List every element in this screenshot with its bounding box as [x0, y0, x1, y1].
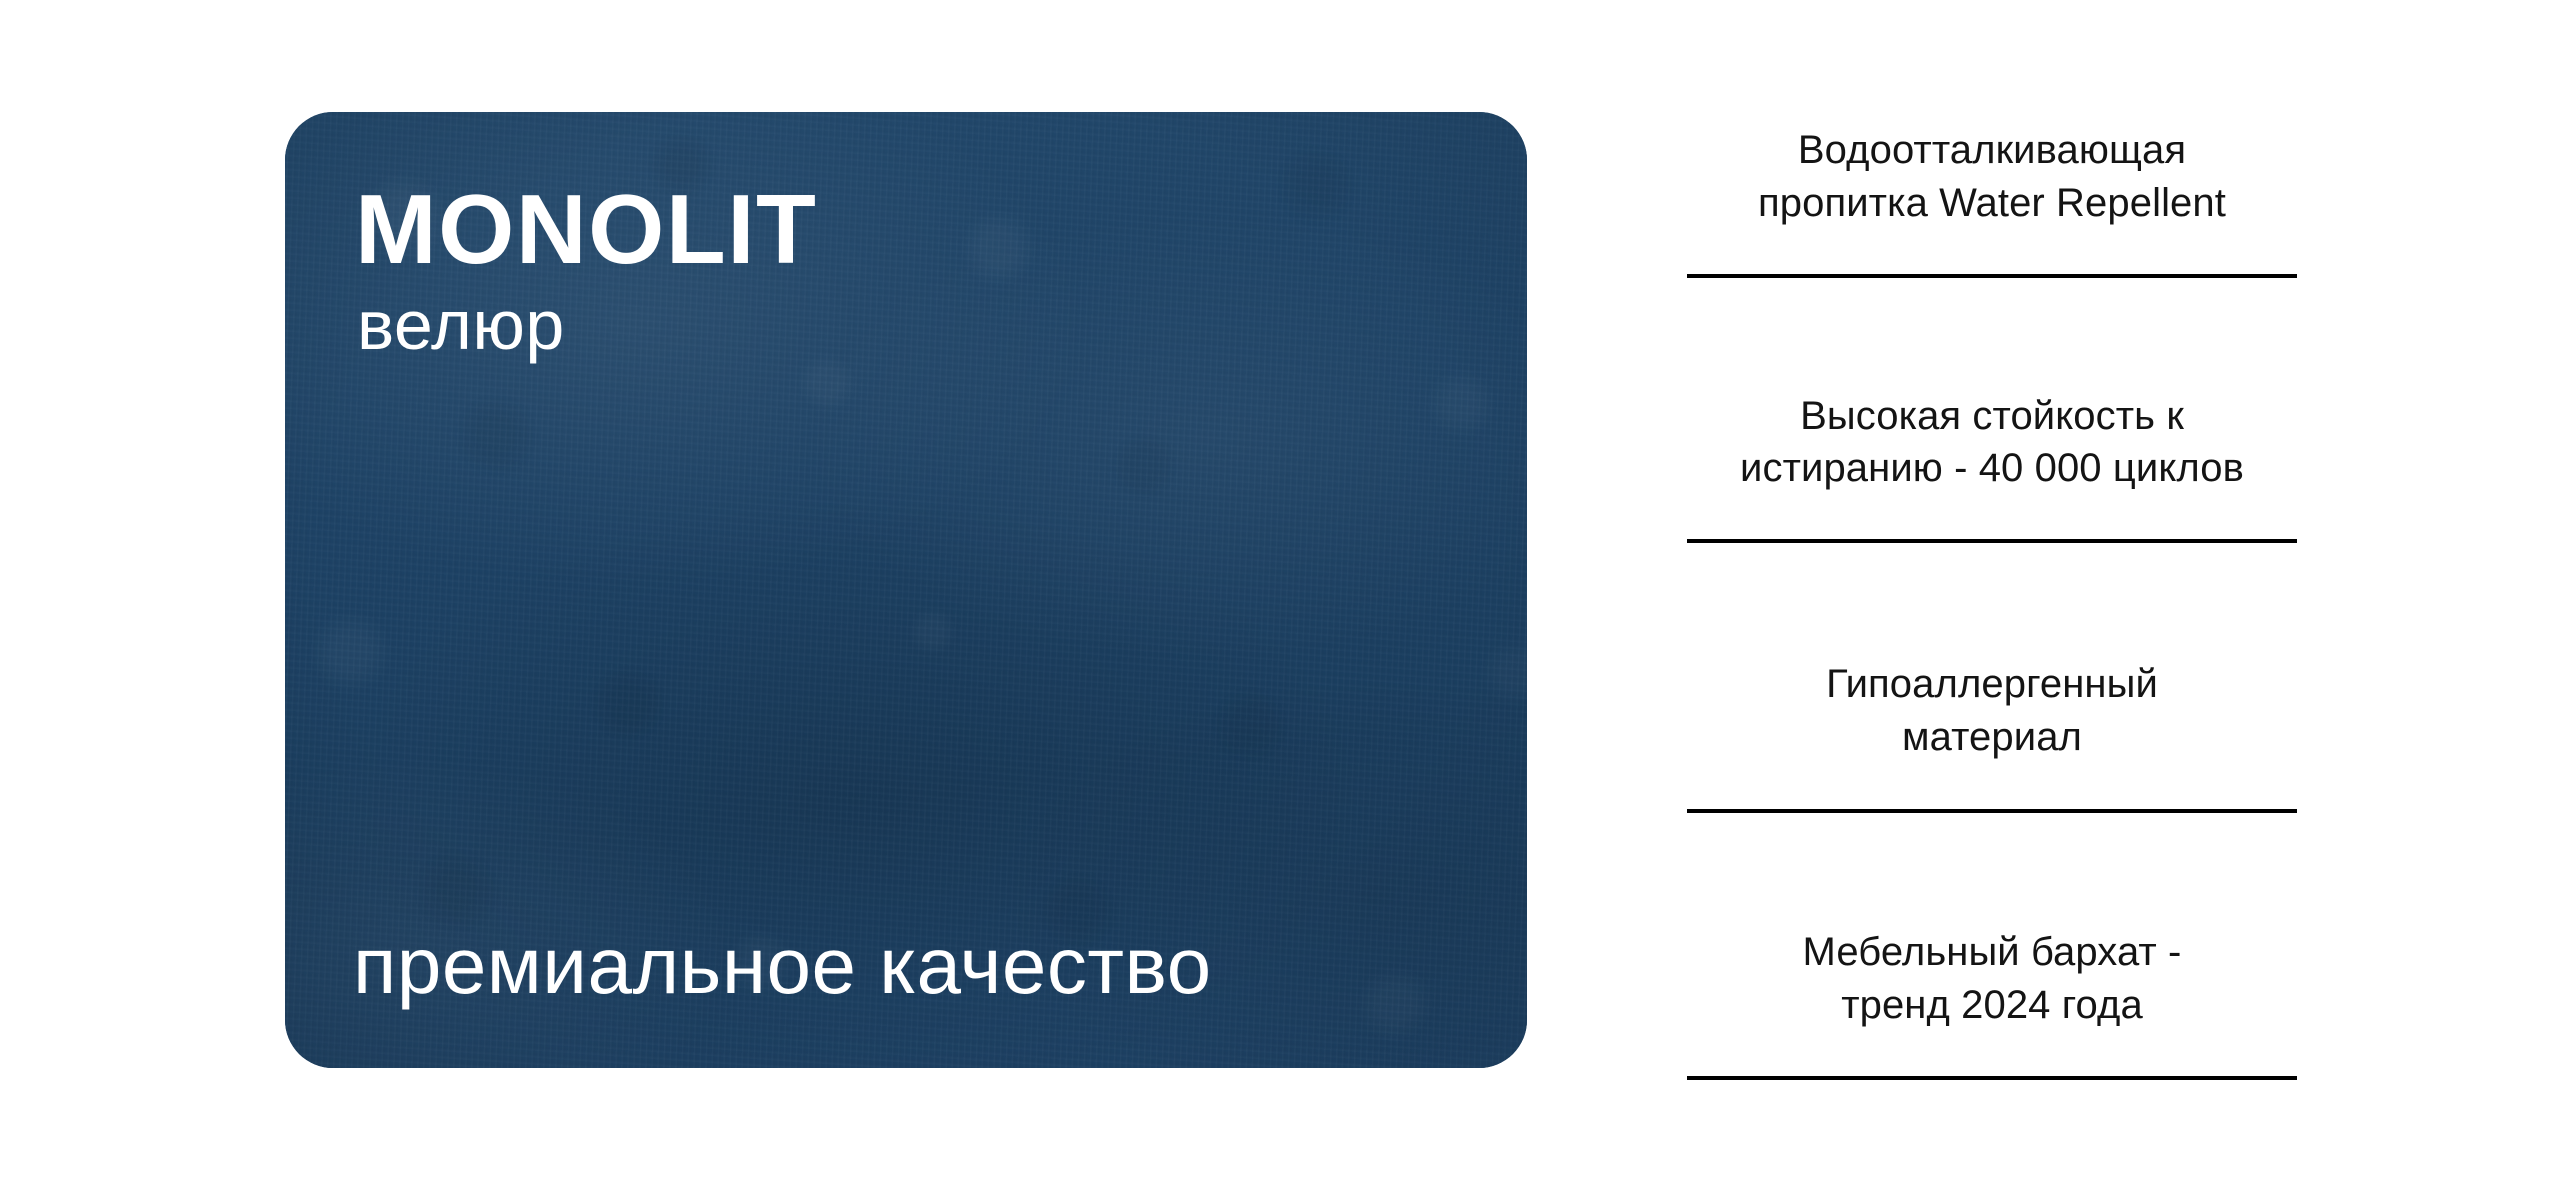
features-list: Водоотталкивающая пропитка Water Repelle…	[1687, 112, 2297, 1080]
feature-item: Мебельный бархат - тренд 2024 года	[1687, 813, 2297, 1081]
feature-text: Мебельный бархат - тренд 2024 года	[1687, 813, 2297, 1032]
swatch-text-overlay: MONOLIT велюр премиальное качество	[285, 112, 1527, 1068]
material-type-label: велюр	[357, 290, 817, 360]
feature-item: Высокая стойкость к истиранию - 40 000 ц…	[1687, 278, 2297, 544]
tagline: премиальное качество	[353, 926, 1212, 1006]
feature-text: Высокая стойкость к истиранию - 40 000 ц…	[1687, 278, 2297, 496]
feature-text: Водоотталкивающая пропитка Water Repelle…	[1687, 112, 2297, 230]
feature-item: Водоотталкивающая пропитка Water Repelle…	[1687, 112, 2297, 278]
brand-block: MONOLIT велюр	[355, 180, 817, 360]
product-spec-card: MONOLIT велюр премиальное качество Водоо…	[0, 0, 2560, 1188]
feature-text: Гипоаллергенный материал	[1687, 543, 2297, 764]
brand-name: MONOLIT	[355, 180, 817, 278]
fabric-swatch: MONOLIT велюр премиальное качество	[285, 112, 1527, 1068]
feature-item: Гипоаллергенный материал	[1687, 543, 2297, 813]
feature-divider	[1687, 1076, 2297, 1080]
